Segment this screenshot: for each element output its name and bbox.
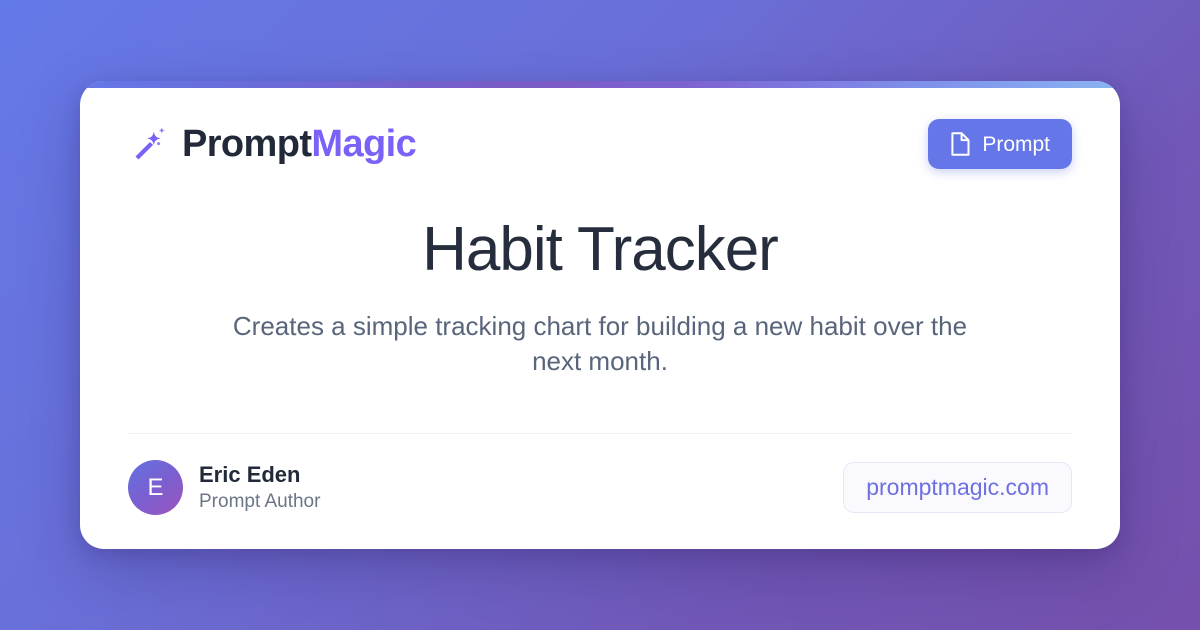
brand-wordmark: PromptMagic	[182, 125, 416, 163]
share-card: PromptMagic Prompt Habit Tracker Creates…	[80, 81, 1120, 549]
card-header: PromptMagic Prompt	[80, 81, 1120, 169]
page-subtitle: Creates a simple tracking chart for buil…	[220, 309, 980, 379]
avatar: E	[128, 460, 183, 515]
card-body: Habit Tracker Creates a simple tracking …	[80, 163, 1120, 433]
brand-name-secondary: Magic	[311, 123, 416, 165]
magic-wand-icon	[128, 124, 168, 164]
author-name: Eric Eden	[199, 462, 320, 488]
prompt-button[interactable]: Prompt	[928, 119, 1072, 169]
document-icon	[950, 132, 971, 156]
author-role: Prompt Author	[199, 491, 320, 514]
author-meta: Eric Eden Prompt Author	[199, 462, 320, 514]
site-url-badge[interactable]: promptmagic.com	[843, 462, 1072, 513]
accent-gradient-bar	[80, 81, 1120, 88]
brand-logo[interactable]: PromptMagic	[128, 124, 416, 164]
page-title: Habit Tracker	[422, 217, 778, 283]
card-footer: E Eric Eden Prompt Author promptmagic.co…	[80, 434, 1120, 549]
prompt-button-label: Prompt	[982, 134, 1050, 155]
brand-name-primary: Prompt	[182, 123, 311, 165]
author-block: E Eric Eden Prompt Author	[128, 460, 320, 515]
